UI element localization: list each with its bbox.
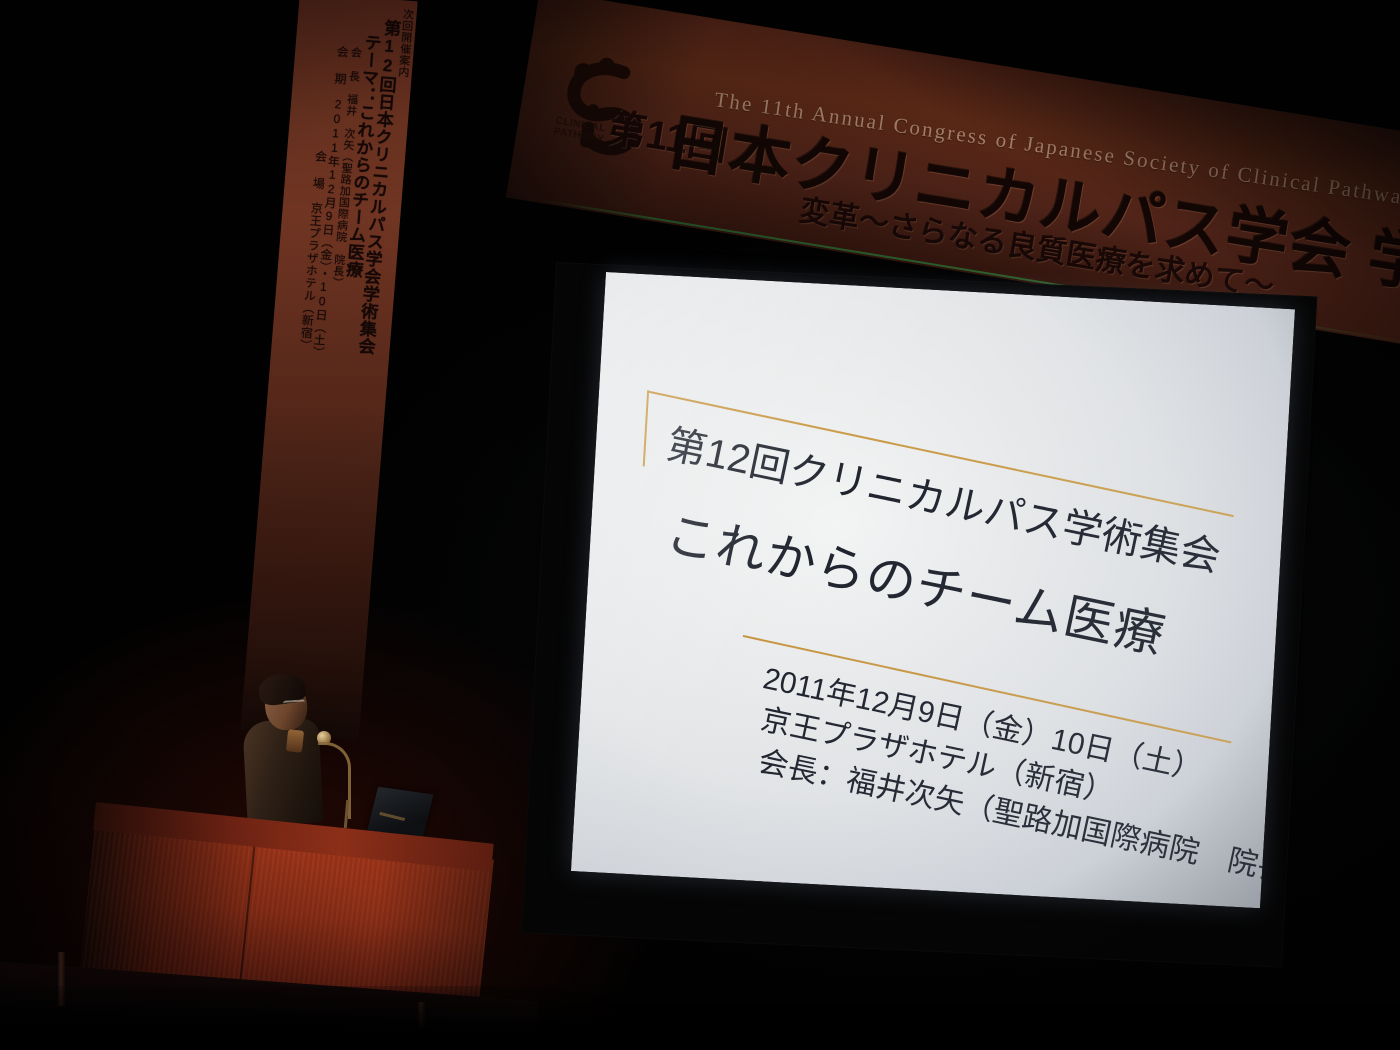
projected-slide: 第12回クリニカルパス学術集会 これからのチーム医療 2011年12月9日（金）… — [571, 272, 1295, 908]
speaker-collar — [286, 729, 304, 753]
slide-text-block: 第12回クリニカルパス学術集会 これからのチーム医療 2011年12月9日（金）… — [571, 272, 1295, 908]
foreground-shadow — [0, 986, 1400, 1050]
vbanner-date: 会 期 2011年12月9日（金）・10日（土） — [282, 1, 353, 728]
vbanner-chair: 会 長 福井 次矢（聖路加国際病院 院長） — [295, 2, 365, 729]
photo-scene: CLINICAL PATHWAY The 11th Annual Congres… — [0, 0, 1400, 1050]
glasses-icon — [283, 699, 306, 709]
lectern — [96, 802, 496, 992]
